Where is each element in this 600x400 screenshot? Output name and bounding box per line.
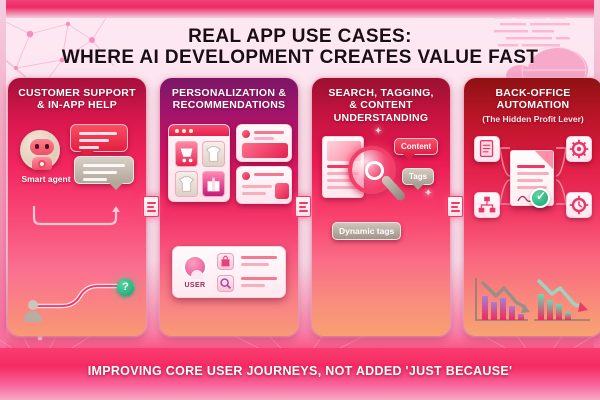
panel-search-tagging[interactable]: SEARCH, TAGGING, & CONTENT UNDERSTANDING… bbox=[312, 78, 450, 336]
panel-4-artwork bbox=[464, 130, 600, 235]
footer-caption: IMPROVING CORE USER JOURNEYS, NOT ADDED … bbox=[0, 364, 600, 378]
panel-2-heading: PERSONALIZATION & RECOMMENDATIONS bbox=[160, 78, 298, 112]
panel-1-heading: CUSTOMER SUPPORT & IN-APP HELP bbox=[8, 78, 146, 112]
declining-bar-chart-icon bbox=[472, 274, 594, 326]
title-line-1: REAL APP USE CASES: bbox=[0, 26, 600, 47]
browser-window-icon bbox=[168, 124, 230, 202]
bag-icon bbox=[217, 253, 234, 270]
pill-tags: Tags bbox=[402, 168, 434, 185]
search-tile-icon bbox=[217, 275, 234, 292]
tshirt-tile-icon-2 bbox=[175, 171, 198, 197]
user-avatar-icon bbox=[183, 255, 207, 279]
question-badge-icon: ? bbox=[117, 279, 134, 296]
smart-agent-label: Smart agent bbox=[10, 174, 82, 184]
panel-2-heading-line-1: PERSONALIZATION & bbox=[166, 87, 292, 99]
panel-4-heading: BACK-OFFICE AUTOMATION (The Hidden Profi… bbox=[464, 78, 600, 124]
sparkle-icon-2: ✦ bbox=[424, 188, 432, 199]
panel-3-heading-line-1: SEARCH, TAGGING, bbox=[318, 87, 444, 99]
panel-3-artwork: Content Tags Dynamic tags ✦ ✦ bbox=[312, 130, 450, 230]
panel-1-artwork: Smart agent bbox=[8, 122, 146, 212]
pill-content: Content bbox=[394, 138, 438, 155]
document-flow-icon-3 bbox=[447, 196, 463, 217]
panel-1-loop-arrow bbox=[30, 206, 126, 228]
image-card-icon bbox=[236, 124, 292, 162]
pill-dynamic-tags: Dynamic tags bbox=[332, 222, 401, 240]
document-icon bbox=[474, 136, 500, 162]
top-frame-band bbox=[0, 0, 600, 18]
panel-4-heading-line-1: BACK-OFFICE bbox=[470, 87, 596, 99]
check-circle-icon bbox=[530, 188, 550, 208]
org-chart-icon bbox=[474, 192, 500, 218]
panel-4-subheading: (The Hidden Profit Lever) bbox=[470, 114, 596, 124]
shopping-cart-tile-icon bbox=[175, 141, 198, 167]
panel-3-heading: SEARCH, TAGGING, & CONTENT UNDERSTANDING bbox=[312, 78, 450, 124]
person-icon bbox=[24, 300, 42, 322]
sparkle-icon: ✦ bbox=[374, 126, 382, 137]
panel-3-heading-line-3: UNDERSTANDING bbox=[318, 112, 444, 124]
title-line-2: WHERE AI DEVELOPMENT CREATES VALUE FAST bbox=[0, 47, 600, 68]
infographic-canvas: REAL APP USE CASES: WHERE AI DEVELOPMENT… bbox=[0, 0, 600, 400]
tshirt-tile-icon bbox=[202, 141, 225, 167]
document-flow-icon-2 bbox=[295, 196, 311, 217]
magnifier-icon bbox=[348, 146, 396, 194]
connector-1 bbox=[140, 196, 162, 222]
panel-back-office[interactable]: BACK-OFFICE AUTOMATION (The Hidden Profi… bbox=[464, 78, 600, 336]
red-chat-bubble-icon bbox=[70, 124, 128, 152]
robot-avatar-icon bbox=[20, 130, 60, 170]
panel-2-heading-line-2: RECOMMENDATIONS bbox=[166, 99, 292, 111]
gift-tile-icon bbox=[202, 171, 225, 197]
panel-4-heading-line-2: AUTOMATION bbox=[470, 99, 596, 111]
user-profile-card: USER bbox=[172, 246, 286, 298]
panel-1-heading-line-1: CUSTOMER SUPPORT bbox=[14, 87, 140, 99]
gray-chat-bubble-icon bbox=[74, 156, 134, 184]
gear-clock-icon bbox=[566, 192, 592, 218]
user-card-label: USER bbox=[179, 282, 211, 289]
panel-customer-support[interactable]: CUSTOMER SUPPORT & IN-APP HELP Smart age… bbox=[8, 78, 146, 336]
list-card-icon bbox=[236, 166, 292, 204]
page-title: REAL APP USE CASES: WHERE AI DEVELOPMENT… bbox=[0, 26, 600, 69]
connector-3 bbox=[444, 196, 466, 222]
panel-personalization[interactable]: PERSONALIZATION & RECOMMENDATIONS bbox=[160, 78, 298, 336]
document-flow-icon bbox=[143, 196, 159, 217]
panel-2-artwork bbox=[160, 120, 298, 215]
connector-2 bbox=[292, 196, 314, 222]
gear-icon bbox=[566, 136, 592, 162]
panel-1-heading-line-2: & IN-APP HELP bbox=[14, 99, 140, 111]
panel-3-heading-line-2: & CONTENT bbox=[318, 99, 444, 111]
